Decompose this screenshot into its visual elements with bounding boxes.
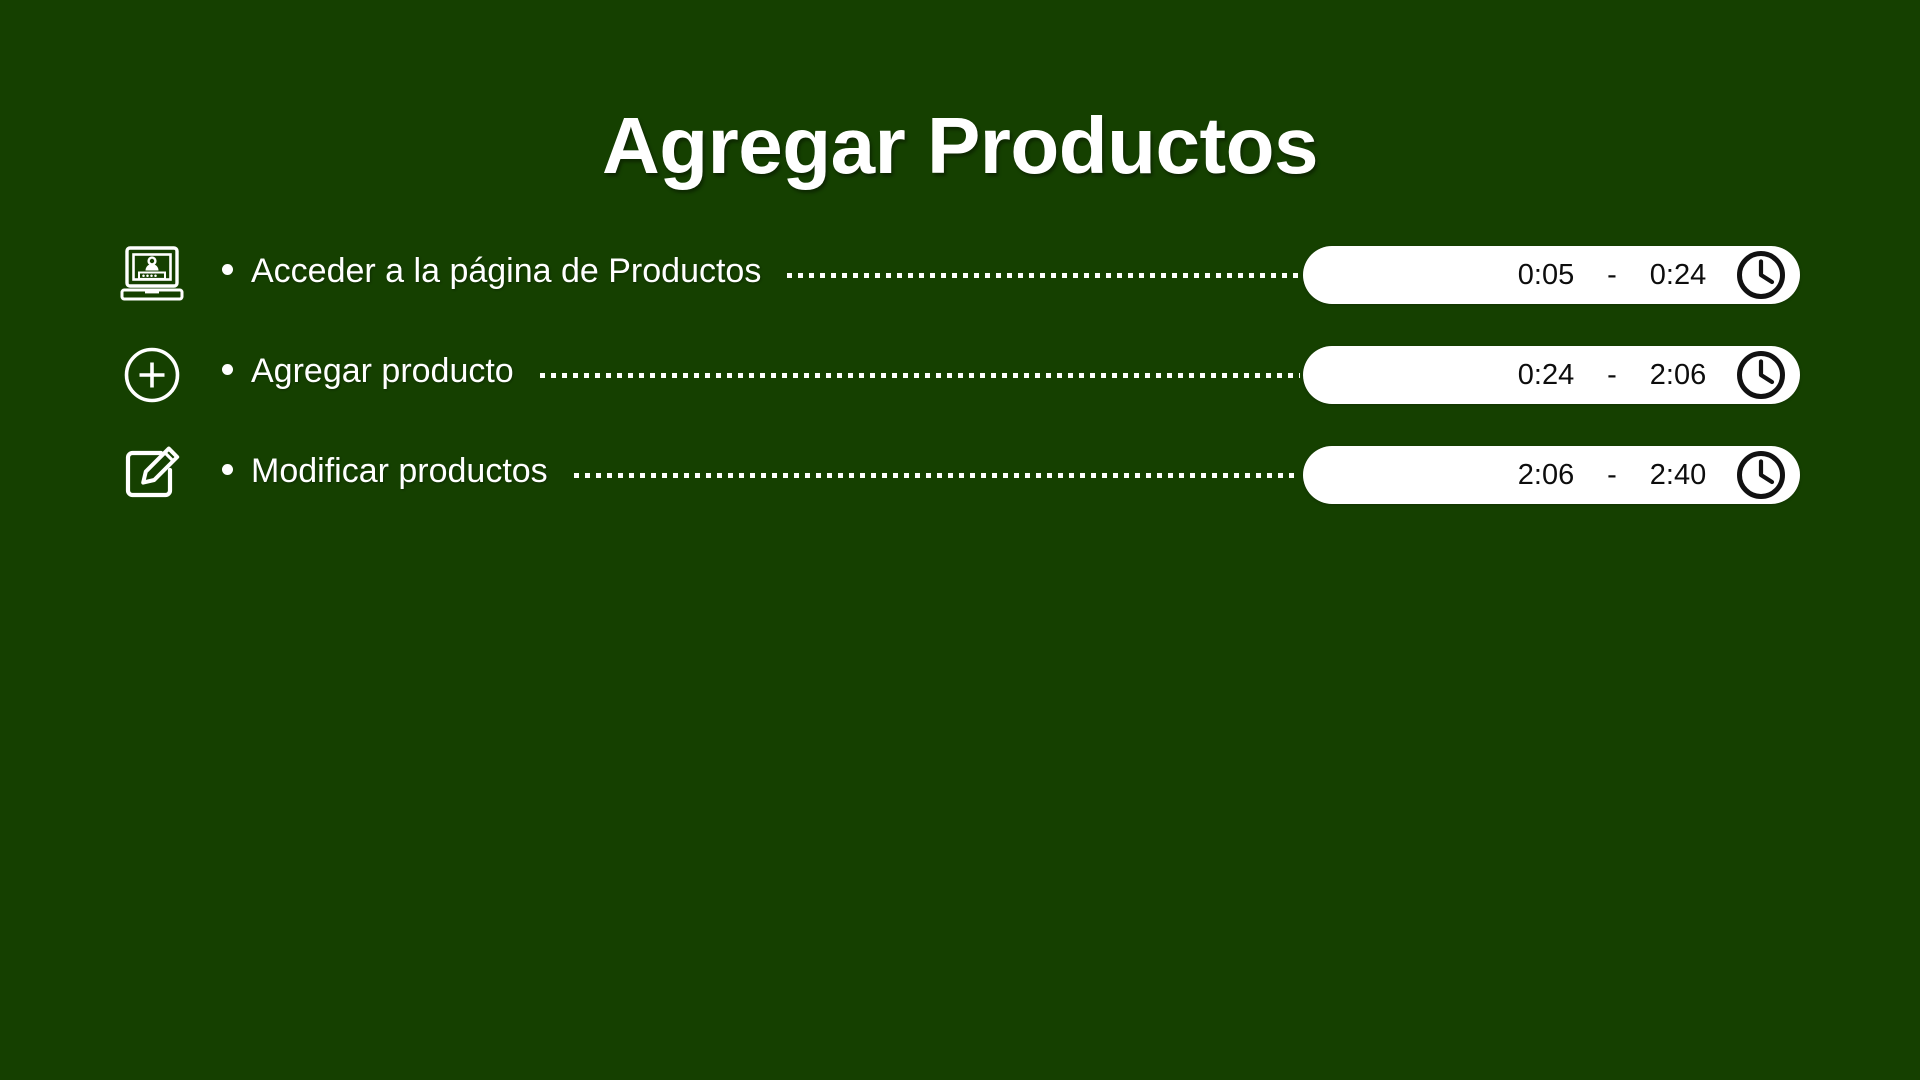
clock-icon [1724,449,1798,501]
list-item[interactable]: Modificar productos 2:06 - 2:40 [0,438,1920,512]
start-time: 0:05 [1500,261,1592,290]
list-item[interactable]: Acceder a la página de Productos 0:05 - … [0,238,1920,312]
bullet-marker [222,364,233,375]
laptop-login-icon [118,241,186,309]
time-range-badge[interactable]: 0:05 - 0:24 [1303,246,1800,304]
page-title: Agregar Productos [0,106,1920,186]
bullet-marker [222,464,233,475]
plus-circle-icon [118,341,186,409]
clock-icon [1724,349,1798,401]
end-time: 2:40 [1632,461,1724,490]
time-range-badge[interactable]: 0:24 - 2:06 [1303,346,1800,404]
time-separator: - [1592,261,1632,290]
list-item-label: Agregar producto [251,351,514,391]
bullet-marker [222,264,233,275]
end-time: 2:06 [1632,361,1724,390]
dotted-leader [787,273,1300,278]
list-item-label: Acceder a la página de Productos [251,251,761,291]
dotted-leader [574,473,1300,478]
list-item-body: Acceder a la página de Productos [222,251,1300,299]
slide-root: Agregar Productos [0,0,1920,1080]
clock-icon [1724,249,1798,301]
list-item-label: Modificar productos [251,451,548,491]
time-separator: - [1592,461,1632,490]
time-range-badge[interactable]: 2:06 - 2:40 [1303,446,1800,504]
agenda-list: Acceder a la página de Productos 0:05 - … [0,238,1920,538]
end-time: 0:24 [1632,261,1724,290]
list-item[interactable]: Agregar producto 0:24 - 2:06 [0,338,1920,412]
edit-square-icon [118,441,186,509]
start-time: 0:24 [1500,361,1592,390]
list-item-body: Modificar productos [222,451,1300,499]
list-item-body: Agregar producto [222,351,1300,399]
time-separator: - [1592,361,1632,390]
dotted-leader [540,373,1300,378]
start-time: 2:06 [1500,461,1592,490]
